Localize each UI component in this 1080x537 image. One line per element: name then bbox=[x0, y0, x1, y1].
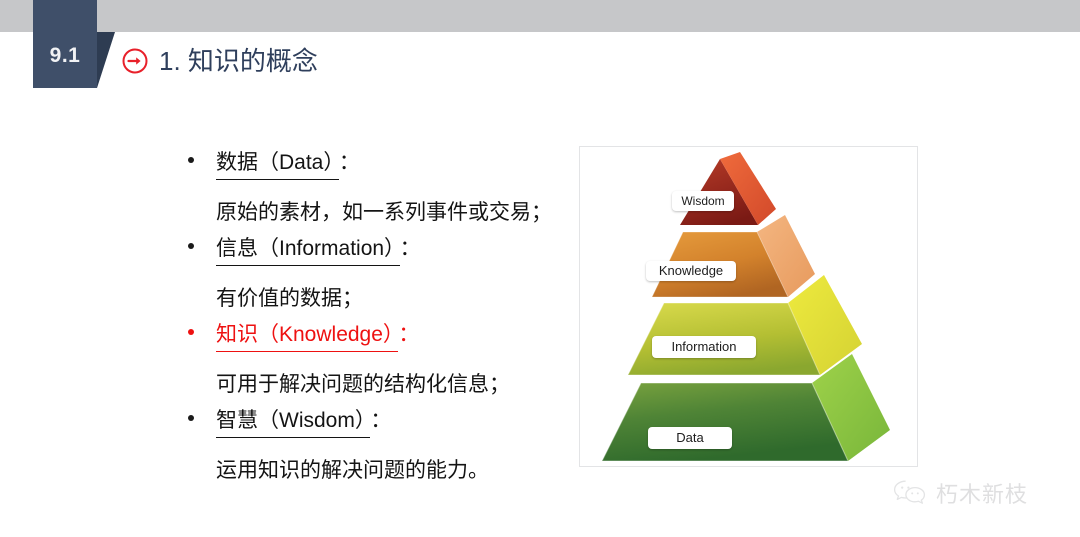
term-line: 知识（Knowledge）： bbox=[188, 324, 568, 364]
list-item: 数据（Data）： 原始的素材，如一系列事件或交易； bbox=[188, 152, 568, 234]
header-gray-band bbox=[0, 0, 1080, 32]
bullet-dot-icon bbox=[188, 415, 194, 421]
page-title: 1. 知识的概念 bbox=[159, 48, 318, 74]
circle-arrow-right-icon bbox=[122, 48, 148, 74]
bullet-dot-icon bbox=[188, 243, 194, 249]
term-line: 智慧（Wisdom）： bbox=[188, 410, 568, 450]
watermark: 朽木新枝 bbox=[893, 477, 1028, 509]
list-item: 智慧（Wisdom）： 运用知识的解决问题的能力。 bbox=[188, 410, 568, 492]
term-colon: ： bbox=[339, 151, 360, 174]
term-description: 有价值的数据； bbox=[188, 278, 568, 320]
term-label: 知识（Knowledge） bbox=[216, 323, 398, 352]
pyramid-graphic bbox=[580, 147, 918, 467]
term-colon: ： bbox=[370, 409, 391, 432]
watermark-text: 朽木新枝 bbox=[936, 477, 1028, 509]
chapter-badge-tail bbox=[97, 32, 115, 88]
bullet-dot-icon bbox=[188, 157, 194, 163]
pyramid-label-information: Information bbox=[652, 336, 756, 358]
slide-title-row: 1. 知识的概念 bbox=[122, 48, 318, 74]
list-item-highlighted: 知识（Knowledge）： 可用于解决问题的结构化信息； bbox=[188, 324, 568, 406]
term-label: 信息（Information） bbox=[216, 237, 400, 266]
wechat-icon bbox=[893, 479, 927, 507]
term-text: 知识（Knowledge）： bbox=[216, 324, 419, 345]
term-description: 可用于解决问题的结构化信息； bbox=[188, 364, 568, 406]
term-label: 数据（Data） bbox=[216, 151, 339, 180]
pyramid-level-wisdom bbox=[680, 152, 776, 225]
concept-list: 数据（Data）： 原始的素材，如一系列事件或交易； 信息（Informatio… bbox=[188, 152, 568, 496]
bullet-dot-icon bbox=[188, 329, 194, 335]
term-line: 信息（Information）： bbox=[188, 238, 568, 278]
term-line: 数据（Data）： bbox=[188, 152, 568, 192]
dikw-pyramid-image: Wisdom Knowledge Information Data bbox=[579, 146, 918, 467]
term-description: 运用知识的解决问题的能力。 bbox=[188, 450, 568, 492]
term-label: 智慧（Wisdom） bbox=[216, 409, 370, 438]
list-item: 信息（Information）： 有价值的数据； bbox=[188, 238, 568, 320]
term-text: 智慧（Wisdom）： bbox=[216, 410, 391, 431]
term-text: 数据（Data）： bbox=[216, 152, 360, 173]
term-text: 信息（Information）： bbox=[216, 238, 421, 259]
pyramid-label-knowledge: Knowledge bbox=[646, 261, 736, 281]
term-colon: ： bbox=[398, 323, 419, 346]
chapter-number: 9.1 bbox=[33, 44, 97, 68]
term-colon: ： bbox=[400, 237, 421, 260]
pyramid-label-wisdom: Wisdom bbox=[672, 191, 734, 211]
pyramid-level-knowledge bbox=[652, 215, 815, 297]
term-description: 原始的素材，如一系列事件或交易； bbox=[188, 192, 568, 234]
pyramid-label-data: Data bbox=[648, 427, 732, 449]
